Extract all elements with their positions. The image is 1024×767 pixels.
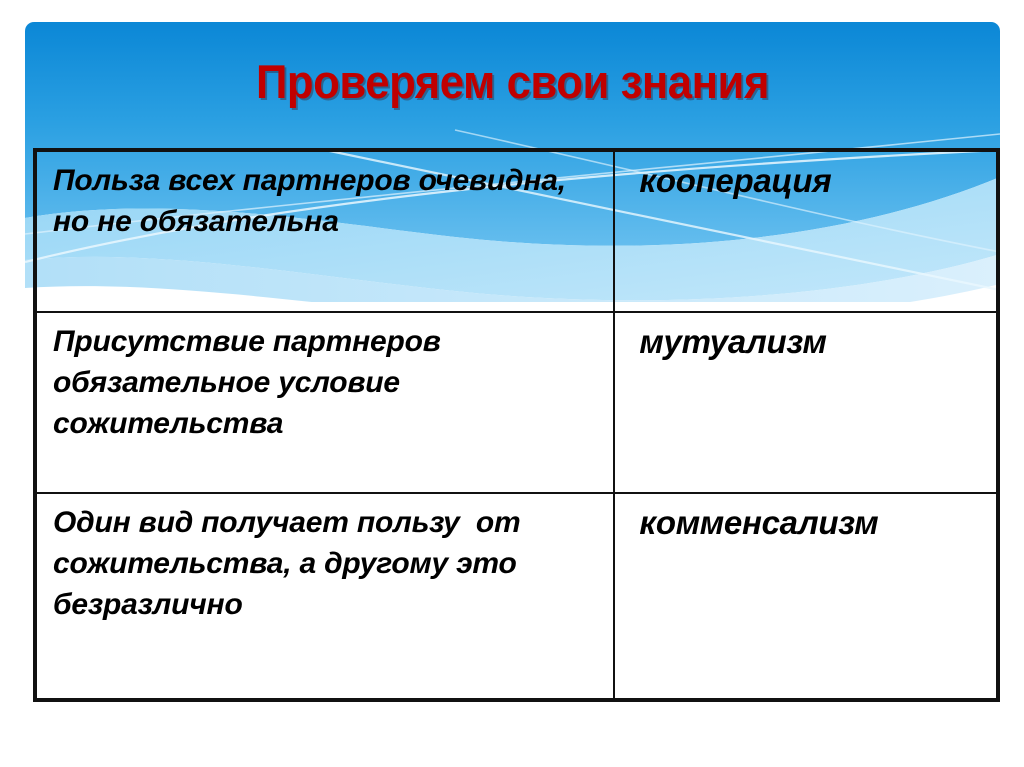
answer-text: мутуализм [639, 321, 996, 362]
table-cell-term: Один вид получает пользу от сожительства… [35, 493, 614, 700]
table-cell-term: Польза всех партнеров очевидна, но не об… [35, 150, 614, 312]
answer-text: кооперация [639, 160, 996, 201]
table-cell-answer: комменсализм [614, 493, 998, 700]
term-text: Присутствие партнеров обязательное услов… [53, 321, 605, 444]
term-text: Польза всех партнеров очевидна, но не об… [53, 160, 605, 242]
table-cell-term: Присутствие партнеров обязательное услов… [35, 312, 614, 493]
knowledge-check-table: Польза всех партнеров очевидна, но не об… [33, 148, 1000, 702]
answer-text: комменсализм [639, 502, 996, 543]
table-row: Присутствие партнеров обязательное услов… [35, 312, 998, 493]
page-title: Проверяем свои знания [59, 54, 966, 110]
term-text: Один вид получает пользу от сожительства… [53, 502, 605, 625]
table-row: Польза всех партнеров очевидна, но не об… [35, 150, 998, 312]
table-cell-answer: мутуализм [614, 312, 998, 493]
table-cell-answer: кооперация [614, 150, 998, 312]
slide-canvas: Проверяем свои знания Польза всех партне… [0, 0, 1024, 767]
table-row: Один вид получает пользу от сожительства… [35, 493, 998, 700]
